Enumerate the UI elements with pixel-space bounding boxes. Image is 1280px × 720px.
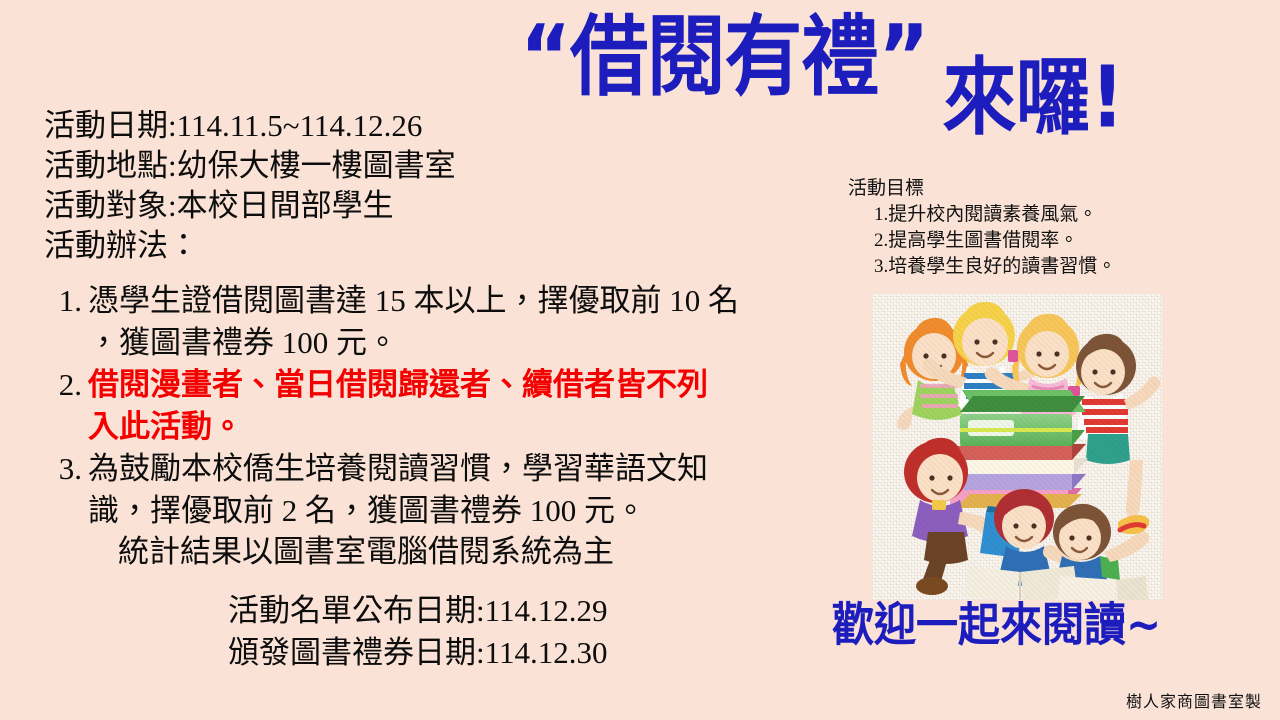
rule-body: 為鼓勵本校僑生培養閱讀習慣，學習華語文知 識，擇優取前 2 名，獲圖書禮券 10… [88, 448, 854, 532]
rule-item-2: 2. 借閱漫畫者、當日借閱歸還者、續借者皆不列 入此活動。 [44, 364, 854, 448]
rule-line: 憑學生證借閱圖書達 15 本以上，擇優取前 10 名 [88, 280, 854, 322]
statistics-note: 統計結果以圖書室電腦借閱系統為主 [118, 532, 614, 572]
rule-number: 1. [44, 280, 88, 322]
event-info-block: 活動日期:114.11.5~114.12.26 活動地點:幼保大樓一樓圖書室 活… [44, 106, 844, 266]
voucher-award-date: 頒發圖書禮券日期:114.12.30 [228, 632, 607, 674]
event-date-line: 活動日期:114.11.5~114.12.26 [44, 106, 844, 146]
announcement-dates: 活動名單公布日期:114.12.29 頒發圖書禮券日期:114.12.30 [228, 590, 607, 674]
goals-title: 活動目標 [848, 176, 1116, 202]
title-tail-text: 來囉! [943, 56, 1125, 140]
rule-body: 憑學生證借閱圖書達 15 本以上，擇優取前 10 名 ，獲圖書禮券 100 元。 [88, 280, 854, 364]
rule-number: 3. [44, 448, 88, 490]
winner-list-date: 活動名單公布日期:114.12.29 [228, 590, 607, 632]
rule-item-1: 1. 憑學生證借閱圖書達 15 本以上，擇優取前 10 名 ，獲圖書禮券 100… [44, 280, 854, 364]
library-credit: 樹人家商圖書室製 [1126, 688, 1262, 712]
rule-line: 為鼓勵本校僑生培養閱讀習慣，學習華語文知 [88, 448, 854, 490]
event-location-line: 活動地點:幼保大樓一樓圖書室 [44, 146, 844, 186]
open-books-ground [964, 566, 1148, 600]
event-audience-line: 活動對象:本校日間部學生 [44, 186, 844, 226]
event-goals-block: 活動目標 1.提升校內閱讀素養風氣。 2.提高學生圖書借閱率。 3.培養學生良好… [848, 176, 1116, 280]
event-rules-list: 1. 憑學生證借閱圖書達 15 本以上，擇優取前 10 名 ，獲圖書禮券 100… [44, 280, 854, 532]
rule-body: 借閱漫畫者、當日借閱歸還者、續借者皆不列 入此活動。 [88, 364, 854, 448]
poster-canvas: “借閱有禮” 來囉! 活動日期:114.11.5~114.12.26 活動地點:… [0, 0, 1280, 720]
rule-line: 入此活動。 [88, 406, 854, 448]
rule-number: 2. [44, 364, 88, 406]
rule-line: 識，擇優取前 2 名，獲圖書禮券 100 元。 [88, 490, 854, 532]
goals-item: 3.培養學生良好的讀書習慣。 [848, 254, 1116, 280]
rule-line: 借閱漫畫者、當日借閱歸還者、續借者皆不列 [88, 364, 854, 406]
children-reading-books-illustration [872, 294, 1162, 600]
goals-item: 1.提升校內閱讀素養風氣。 [848, 202, 1116, 228]
rule-line: ，獲圖書禮券 100 元。 [88, 322, 854, 364]
rule-item-3: 3. 為鼓勵本校僑生培養閱讀習慣，學習華語文知 識，擇優取前 2 名，獲圖書禮券… [44, 448, 854, 532]
illustration-svg [872, 294, 1162, 600]
welcome-slogan: 歡迎一起來閱讀~ [832, 602, 1161, 648]
event-method-heading: 活動辦法： [44, 226, 844, 266]
goals-item: 2.提高學生圖書借閱率。 [848, 228, 1116, 254]
child-red-stripes-boy [1068, 334, 1160, 516]
title-quoted-text: “借閱有禮” [520, 14, 929, 101]
